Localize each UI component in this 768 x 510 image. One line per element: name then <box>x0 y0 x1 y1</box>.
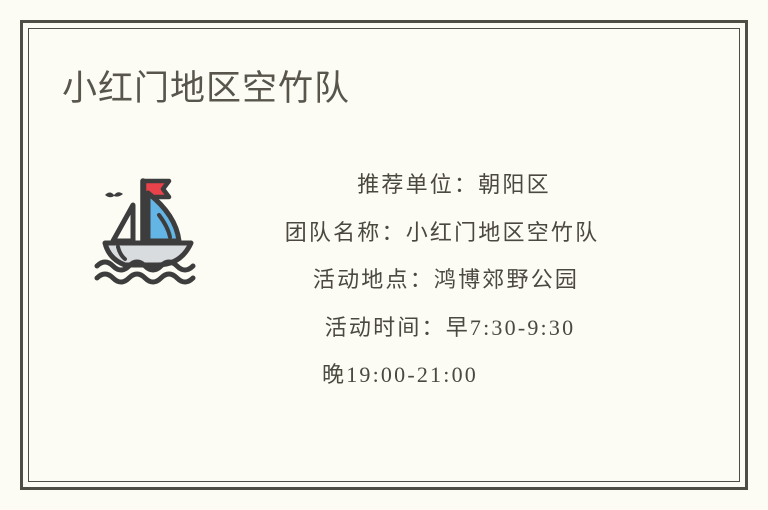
detail-line-activity-location: 活动地点：鸿博郊野公园 <box>211 256 681 304</box>
detail-line-recommending-unit: 推荐单位：朝阳区 <box>219 161 689 209</box>
detail-lines: 推荐单位：朝阳区 团队名称：小红门地区空竹队 活动地点：鸿博郊野公园 活动时间：… <box>207 161 677 399</box>
detail-line-activity-time: 活动时间：早7:30-9:30 <box>215 304 685 352</box>
sailboat-icon <box>87 167 207 287</box>
detail-line-activity-time-evening: 晚19:00-21:00 <box>165 351 635 399</box>
page-title: 小红门地区空竹队 <box>62 67 350 111</box>
info-card-inner-border: 小红门地区空竹队 <box>28 28 740 482</box>
info-card: 小红门地区空竹队 <box>20 20 748 490</box>
detail-line-team-name: 团队名称：小红门地区空竹队 <box>207 209 677 257</box>
